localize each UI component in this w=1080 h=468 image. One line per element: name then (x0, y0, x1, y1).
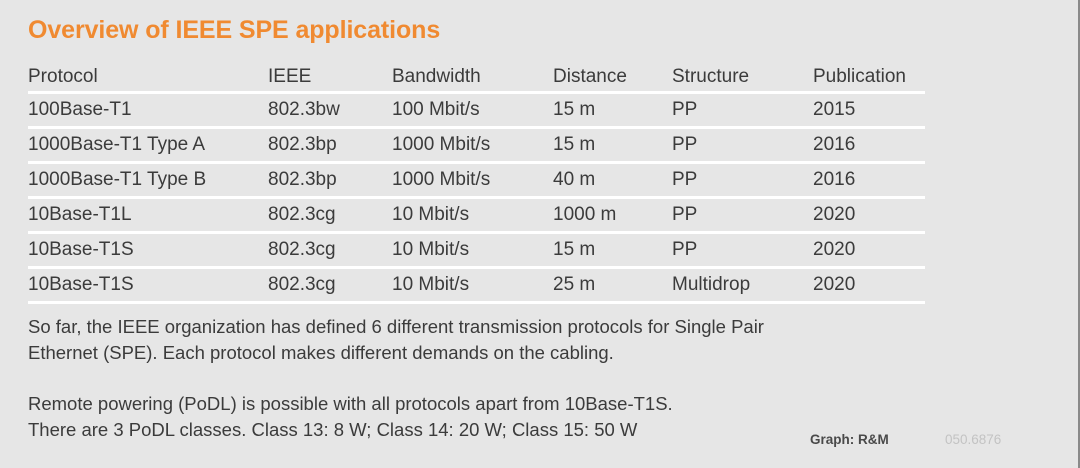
cell-ieee: 802.3bp (268, 163, 392, 198)
table-row: 1000Base-T1 Type A 802.3bp 1000 Mbit/s 1… (28, 128, 925, 163)
cell-publication: 2020 (813, 233, 925, 268)
table-header-row: Protocol IEEE Bandwidth Distance Structu… (28, 62, 925, 93)
cell-protocol: 100Base-T1 (28, 93, 268, 128)
cell-structure: Multidrop (672, 268, 813, 303)
paragraph-podl-line-2: There are 3 PoDL classes. Class 13: 8 W;… (28, 417, 673, 443)
spe-applications-table: Protocol IEEE Bandwidth Distance Structu… (28, 62, 925, 304)
cell-distance: 1000 m (553, 198, 672, 233)
cell-protocol: 10Base-T1S (28, 233, 268, 268)
column-header-distance: Distance (553, 62, 672, 93)
cell-ieee: 802.3bw (268, 93, 392, 128)
paragraph-protocols-line-1: So far, the IEEE organization has define… (28, 314, 764, 340)
cell-structure: PP (672, 128, 813, 163)
cell-structure: PP (672, 198, 813, 233)
cell-distance: 25 m (553, 268, 672, 303)
paragraph-protocols-line-2: Ethernet (SPE). Each protocol makes diff… (28, 340, 764, 366)
table-row: 10Base-T1S 802.3cg 10 Mbit/s 25 m Multid… (28, 268, 925, 303)
paragraph-podl-line-1: Remote powering (PoDL) is possible with … (28, 391, 673, 417)
cell-distance: 15 m (553, 233, 672, 268)
cell-bandwidth: 10 Mbit/s (392, 233, 553, 268)
cell-distance: 15 m (553, 93, 672, 128)
cell-ieee: 802.3cg (268, 268, 392, 303)
table-row: 10Base-T1S 802.3cg 10 Mbit/s 15 m PP 202… (28, 233, 925, 268)
cell-structure: PP (672, 163, 813, 198)
cell-publication: 2020 (813, 198, 925, 233)
cell-bandwidth: 10 Mbit/s (392, 268, 553, 303)
cell-bandwidth: 1000 Mbit/s (392, 163, 553, 198)
cell-publication: 2016 (813, 163, 925, 198)
slide-content: Overview of IEEE SPE applications Protoc… (28, 0, 1078, 468)
column-header-structure: Structure (672, 62, 813, 93)
cell-structure: PP (672, 93, 813, 128)
cell-protocol: 10Base-T1S (28, 268, 268, 303)
cell-ieee: 802.3cg (268, 198, 392, 233)
table-row: 100Base-T1 802.3bw 100 Mbit/s 15 m PP 20… (28, 93, 925, 128)
slide-canvas: Overview of IEEE SPE applications Protoc… (0, 0, 1080, 468)
table-row: 10Base-T1L 802.3cg 10 Mbit/s 1000 m PP 2… (28, 198, 925, 233)
cell-publication: 2020 (813, 268, 925, 303)
document-code: 050.6876 (945, 432, 1001, 447)
cell-publication: 2016 (813, 128, 925, 163)
cell-bandwidth: 100 Mbit/s (392, 93, 553, 128)
cell-protocol: 1000Base-T1 Type A (28, 128, 268, 163)
table-row: 1000Base-T1 Type B 802.3bp 1000 Mbit/s 4… (28, 163, 925, 198)
cell-protocol: 10Base-T1L (28, 198, 268, 233)
cell-bandwidth: 10 Mbit/s (392, 198, 553, 233)
table-body: 100Base-T1 802.3bw 100 Mbit/s 15 m PP 20… (28, 93, 925, 303)
column-header-ieee: IEEE (268, 62, 392, 93)
graph-credit: Graph: R&M (810, 432, 889, 447)
cell-ieee: 802.3bp (268, 128, 392, 163)
paragraph-podl: Remote powering (PoDL) is possible with … (28, 391, 673, 443)
column-header-protocol: Protocol (28, 62, 268, 93)
cell-distance: 40 m (553, 163, 672, 198)
table-header: Protocol IEEE Bandwidth Distance Structu… (28, 62, 925, 93)
column-header-publication: Publication (813, 62, 925, 93)
cell-bandwidth: 1000 Mbit/s (392, 128, 553, 163)
paragraph-protocols: So far, the IEEE organization has define… (28, 314, 764, 366)
cell-protocol: 1000Base-T1 Type B (28, 163, 268, 198)
cell-structure: PP (672, 233, 813, 268)
column-header-bandwidth: Bandwidth (392, 62, 553, 93)
cell-distance: 15 m (553, 128, 672, 163)
cell-ieee: 802.3cg (268, 233, 392, 268)
page-title: Overview of IEEE SPE applications (28, 16, 440, 45)
cell-publication: 2015 (813, 93, 925, 128)
